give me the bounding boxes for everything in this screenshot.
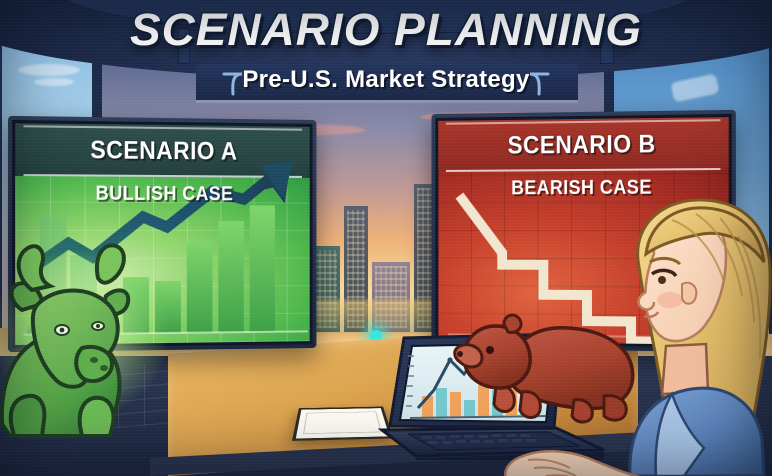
scenario-b-header: SCENARIO B [438, 117, 728, 172]
scene-canvas: SCENARIO A BULLISH CASE [0, 0, 772, 476]
page-subtitle: Pre-U.S. Market Strategy [0, 66, 772, 94]
scenario-a-case-label: BULLISH CASE [30, 182, 295, 206]
page-title: SCENARIO PLANNING [0, 4, 772, 56]
title-block: SCENARIO PLANNING [0, 4, 772, 56]
hand-on-desk [500, 424, 670, 476]
scenario-b-title: SCENARIO B [508, 130, 656, 160]
bull-mascot-icon [0, 238, 174, 438]
bracket-flourish-left-icon [222, 70, 248, 96]
bracket-flourish-right-icon [524, 70, 550, 96]
